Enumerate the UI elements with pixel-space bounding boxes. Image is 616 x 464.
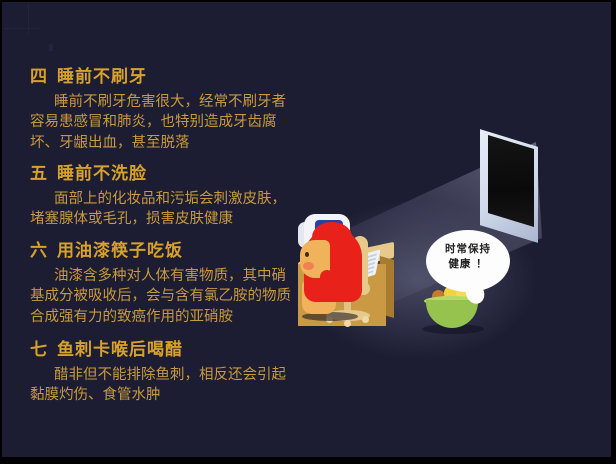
section-four-number: 四 [30,67,48,87]
corner-hairline-vertical [28,4,29,34]
section-seven-title: 鱼刺卡喉后喝醋 [57,340,183,360]
section-six-title: 用油漆筷子吃饭 [57,241,183,261]
section-five: 五睡前不洗脸 面部上的化妆品和污垢会刺激皮肤，堵塞腺体或毛孔，损害皮肤健康 [30,165,292,230]
window-glass [488,135,534,227]
speech-bubble-line-2: 健康 ！ [434,257,502,272]
frame-bottom [0,457,616,464]
illustration: 时常保持 健康 ！ [298,130,598,370]
section-five-body: 面部上的化妆品和污垢会刺激皮肤，堵塞腺体或毛孔，损害皮肤健康 [30,189,292,230]
section-five-title: 睡前不洗脸 [57,164,147,184]
slide-root: 四睡前不刷牙 睡前不刷牙危害很大，经常不刷牙者容易患感冒和肺炎，也特别造成牙齿腐… [0,0,616,464]
section-seven-number: 七 [30,340,48,360]
speech-bubble-text: 时常保持 健康 ！ [434,242,502,272]
section-six-body: 油漆含多种对人体有害物质，其中硝基成分被吸收后，会与含有氯乙胺的物质合成强有力的… [30,266,292,328]
section-four: 四睡前不刷牙 睡前不刷牙危害很大，经常不刷牙者容易患感冒和肺炎，也特别造成牙齿腐… [30,68,292,153]
chair-caster [344,320,351,327]
section-seven-heading: 七鱼刺卡喉后喝醋 [30,341,292,361]
section-six-number: 六 [30,241,48,261]
section-seven-body: 醋非但不能排除鱼刺，相反还会引起黏膜灼伤、食管水肿 [30,365,292,406]
character-cheek [303,262,314,270]
section-six: 六用油漆筷子吃饭 油漆含多种对人体有害物质，其中硝基成分被吸收后，会与含有氯乙胺… [30,242,292,327]
frame-left [0,0,2,464]
section-five-heading: 五睡前不洗脸 [30,165,292,185]
decorative-speck [49,44,53,51]
frame-right [611,0,616,464]
text-column: 四睡前不刷牙 睡前不刷牙危害很大，经常不刷牙者容易患感冒和肺炎，也特别造成牙齿腐… [30,68,292,415]
section-four-heading: 四睡前不刷牙 [30,68,292,88]
slide-canvas: 四睡前不刷牙 睡前不刷牙危害很大，经常不刷牙者容易患感冒和肺炎，也特别造成牙齿腐… [2,2,612,457]
section-four-title: 睡前不刷牙 [57,67,147,87]
character-arm [320,270,334,292]
frame-top [0,0,616,2]
section-five-number: 五 [30,164,48,184]
character-eye [305,252,309,257]
section-seven: 七鱼刺卡喉后喝醋 醋非但不能排除鱼刺，相反还会引起黏膜灼伤、食管水肿 [30,341,292,406]
corner-hairline-horizontal [4,28,40,29]
chair-caster [362,316,369,323]
section-six-heading: 六用油漆筷子吃饭 [30,242,292,262]
section-four-body: 睡前不刷牙危害很大，经常不刷牙者容易患感冒和肺炎，也特别造成牙齿腐坏、牙龈出血，… [30,92,292,154]
speech-bubble-line-1: 时常保持 [434,242,502,257]
